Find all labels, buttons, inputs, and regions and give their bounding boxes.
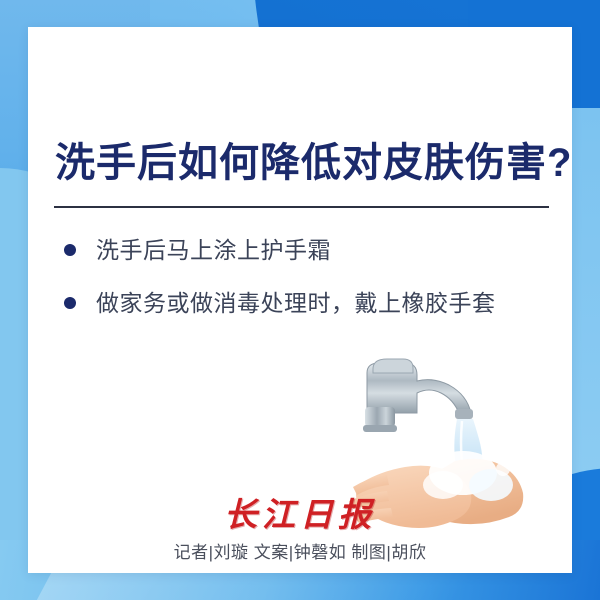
page-title: 洗手后如何降低对皮肤伤害?	[55, 130, 572, 188]
bullet-list: 洗手后马上涂上护手霜 做家务或做消毒处理时，戴上橡胶手套	[64, 233, 534, 339]
faucet-base	[365, 407, 395, 427]
poster-root: 洗手后如何降低对皮肤伤害? 洗手后马上涂上护手霜 做家务或做消毒处理时，戴上橡胶…	[0, 0, 600, 600]
footer: 长江日报 记者|刘璇 文案|钟磬如 制图|胡欣	[28, 496, 572, 563]
soap-foam-3	[423, 471, 463, 499]
faucet-collar	[363, 425, 397, 432]
credits-line: 记者|刘璇 文案|钟磬如 制图|胡欣	[28, 538, 572, 563]
soap-bubble-2	[510, 456, 516, 462]
content-card: 洗手后如何降低对皮肤伤害? 洗手后马上涂上护手霜 做家务或做消毒处理时，戴上橡胶…	[28, 27, 572, 573]
changjiang-daily-logo: 长江日报	[28, 496, 572, 536]
bullet-dot-icon	[64, 244, 76, 256]
title-divider	[54, 206, 549, 208]
list-item: 做家务或做消毒处理时，戴上橡胶手套	[64, 286, 534, 321]
card-inner: 洗手后如何降低对皮肤伤害? 洗手后马上涂上护手霜 做家务或做消毒处理时，戴上橡胶…	[28, 27, 572, 573]
faucet-handle	[373, 359, 413, 373]
list-item-label: 洗手后马上涂上护手霜	[96, 233, 331, 268]
bullet-dot-icon	[64, 297, 76, 309]
list-item-label: 做家务或做消毒处理时，戴上橡胶手套	[96, 286, 496, 321]
soap-bubble-1	[496, 462, 510, 476]
faucet-tip	[455, 409, 473, 419]
list-item: 洗手后马上涂上护手霜	[64, 233, 534, 268]
